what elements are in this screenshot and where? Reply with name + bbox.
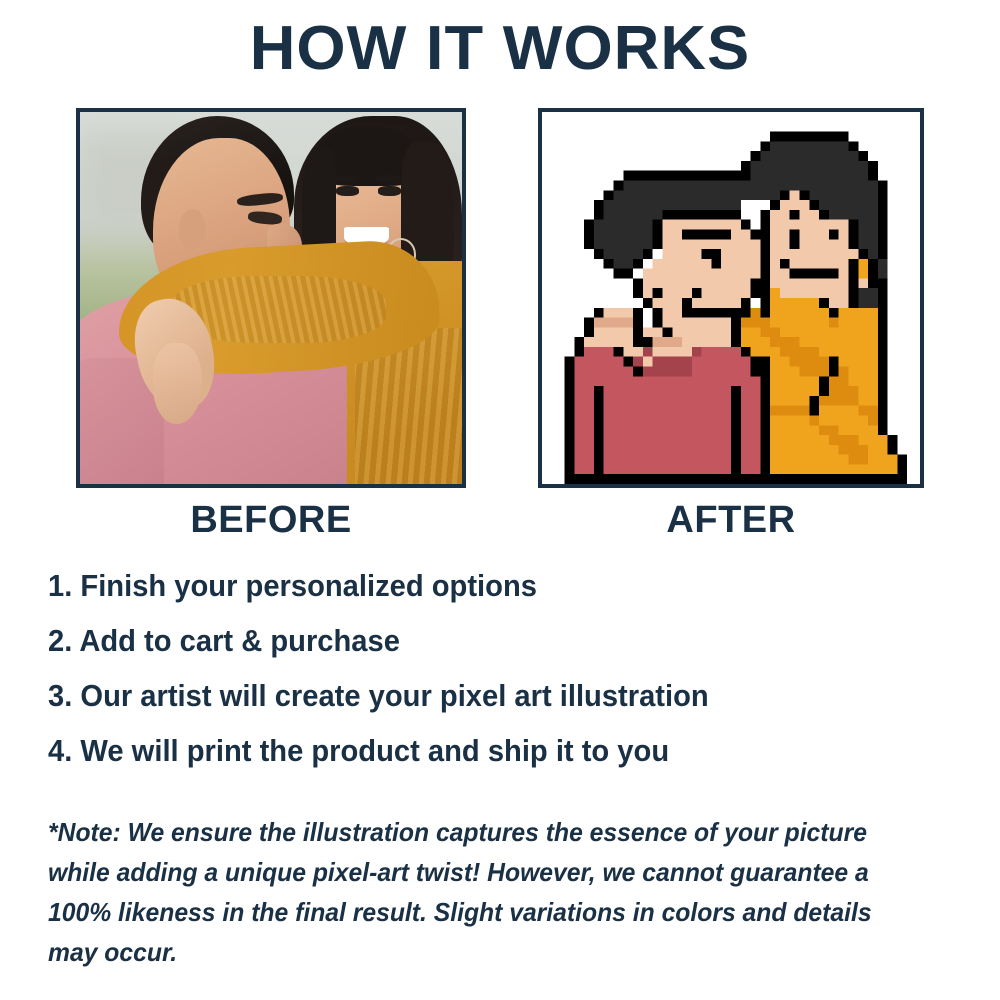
before-photo xyxy=(80,112,462,484)
photo-man-ear xyxy=(179,209,206,250)
photo-woman-eyebrow-left xyxy=(332,175,359,182)
caption-before: BEFORE xyxy=(76,498,466,542)
photo-woman-eye-left xyxy=(336,186,359,196)
comparison-captions: BEFORE AFTER xyxy=(0,498,1000,546)
disclaimer-note: *Note: We ensure the illustration captur… xyxy=(48,812,903,972)
comparison-frames xyxy=(0,108,1000,493)
before-photo-frame xyxy=(76,108,466,488)
caption-after: AFTER xyxy=(538,498,924,542)
step-item: 2. Add to cart & purchase xyxy=(48,613,913,668)
step-item: 4. We will print the product and ship it… xyxy=(48,723,913,778)
after-pixelart-image xyxy=(542,112,920,484)
steps-list: 1. Finish your personalized options 2. A… xyxy=(48,558,968,778)
step-item: 1. Finish your personalized options xyxy=(48,558,913,613)
after-pixelart-frame xyxy=(538,108,924,488)
photo-woman-eye-right xyxy=(378,186,401,196)
photo-woman-eyebrow-right xyxy=(374,175,401,182)
step-item: 3. Our artist will create your pixel art… xyxy=(48,668,913,723)
page-title: HOW IT WORKS xyxy=(0,0,1000,80)
